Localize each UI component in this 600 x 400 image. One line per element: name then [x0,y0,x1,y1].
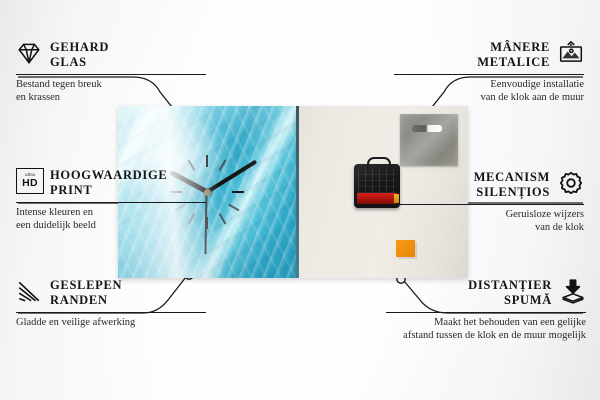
clock-minute-hand [206,160,257,194]
callout-title: MECANISM SILENȚIOS [474,170,550,199]
callout-description: Gladde en veilige afwerking [16,316,206,329]
metal-hanger-plate [400,114,458,166]
callout-rule [394,74,584,75]
callout-rule [394,204,584,205]
foam-spacer-icon [560,278,586,304]
callout-rule [16,74,206,75]
callout-description: Bestand tegen breuk en krassen [16,78,206,104]
callout-title: HOOGWAARDIGE PRINT [50,168,167,197]
battery [357,193,397,204]
bevelled-edges-icon [16,278,42,304]
callout-title: GESLEPEN RANDEN [50,278,122,307]
callout-distantier-spuma: DISTANȚIER SPUMĂ Maakt het behouden van … [386,278,586,342]
callout-description: Maakt het behouden van een gelijke afsta… [386,316,586,342]
infographic-stage: GEHARD GLAS Bestand tegen breuk en krass… [0,0,600,400]
callout-description: Eenvoudige installatie van de klok aan d… [394,78,584,104]
picture-hanger-icon [558,40,584,66]
callout-title: GEHARD GLAS [50,40,109,69]
callout-description: Geruisloze wijzers van de klok [394,208,584,234]
callout-title: MÂNERE METALICE [477,40,550,69]
callout-rule [16,202,206,203]
callout-manere-metalice: MÂNERE METALICE Eenvoudige installatie v… [394,40,584,104]
ultra-hd-icon: ultra HD [16,168,42,194]
panel-edge [296,106,299,278]
mechanism-texture [358,169,396,193]
callout-geslepen-randen: GESLEPEN RANDEN Gladde en veilige afwerk… [16,278,206,329]
ultra-hd-text: HD [22,178,38,189]
diamond-icon [16,40,42,66]
gear-icon [558,170,584,196]
callout-rule [386,312,586,313]
callout-gehard-glas: GEHARD GLAS Bestand tegen breuk en krass… [16,40,206,104]
callout-mecanism-silentios: MECANISM SILENȚIOS Geruisloze wijzers va… [394,170,584,234]
callout-hd-print: ultra HD HOOGWAARDIGE PRINT Intense kleu… [16,168,206,232]
callout-rule [16,312,206,313]
callout-description: Intense kleuren en een duidelijk beeld [16,206,206,232]
foam-spacer [396,240,415,257]
callout-title: DISTANȚIER SPUMĂ [468,278,552,307]
